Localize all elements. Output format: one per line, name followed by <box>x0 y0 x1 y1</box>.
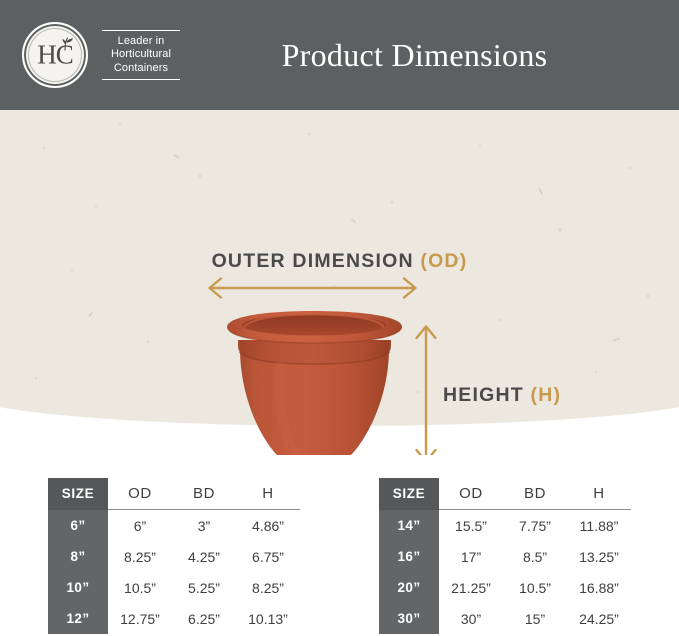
tagline-line-3: Containers <box>104 62 178 76</box>
cell-od: 21.25” <box>439 572 503 603</box>
logo-tagline: Leader in Horticultural Containers <box>102 27 180 84</box>
table-row: 30” 30” 15” 24.25” <box>379 603 631 634</box>
dimension-table-left: SIZE OD BD H 6” 6” 3” 4.86” 8” 8.25” 4.2… <box>48 478 300 634</box>
cell-size: 20” <box>379 572 439 603</box>
cell-size: 8” <box>48 541 108 572</box>
tagline-rule-bottom <box>102 79 180 80</box>
tagline-line-1: Leader in <box>104 35 178 49</box>
cell-bd: 6.25” <box>172 603 236 634</box>
logo-monogram: HC <box>24 42 86 69</box>
col-head-bd: BD <box>503 478 567 510</box>
cell-od: 17” <box>439 541 503 572</box>
cell-bd: 8.5” <box>503 541 567 572</box>
outer-dimension-arrow <box>200 276 425 300</box>
cell-od: 8.25” <box>108 541 172 572</box>
cell-h: 13.25” <box>567 541 631 572</box>
height-text: HEIGHT <box>443 384 524 406</box>
col-head-size: SIZE <box>379 478 439 510</box>
col-head-size: SIZE <box>48 478 108 510</box>
cell-h: 4.86” <box>236 510 300 542</box>
cell-size: 16” <box>379 541 439 572</box>
cell-h: 8.25” <box>236 572 300 603</box>
table-row: 6” 6” 3” 4.86” <box>48 510 300 542</box>
table-row: 20” 21.25” 10.5” 16.88” <box>379 572 631 603</box>
dimension-table-right: SIZE OD BD H 14” 15.5” 7.75” 11.88” 16” … <box>379 478 631 634</box>
col-head-od: OD <box>439 478 503 510</box>
table-row: 10” 10.5” 5.25” 8.25” <box>48 572 300 603</box>
cell-bd: 10.5” <box>503 572 567 603</box>
table-header-row: SIZE OD BD H <box>48 478 300 510</box>
cell-od: 6” <box>108 510 172 542</box>
col-head-bd: BD <box>172 478 236 510</box>
cell-od: 12.75” <box>108 603 172 634</box>
cell-size: 10” <box>48 572 108 603</box>
cell-h: 11.88” <box>567 510 631 542</box>
outer-dimension-code: (OD) <box>420 250 467 272</box>
cell-od: 10.5” <box>108 572 172 603</box>
cell-bd: 7.75” <box>503 510 567 542</box>
product-dimensions-infographic: HC Leader in Horticultural Containers Pr… <box>0 0 679 636</box>
cell-od: 15.5” <box>439 510 503 542</box>
cell-size: 14” <box>379 510 439 542</box>
outer-dimension-text: OUTER DIMENSION <box>212 250 414 272</box>
cell-size: 6” <box>48 510 108 542</box>
height-code: (H) <box>531 384 562 406</box>
table-row: 14” 15.5” 7.75” 11.88” <box>379 510 631 542</box>
table-row: 8” 8.25” 4.25” 6.75” <box>48 541 300 572</box>
col-head-h: H <box>567 478 631 510</box>
height-arrow <box>414 318 438 455</box>
tagline-line-2: Horticultural <box>104 48 178 62</box>
hc-logo-icon: HC <box>22 22 88 88</box>
cell-bd: 3” <box>172 510 236 542</box>
col-head-h: H <box>236 478 300 510</box>
cell-h: 16.88” <box>567 572 631 603</box>
table-header-row: SIZE OD BD H <box>379 478 631 510</box>
table-row: 16” 17” 8.5” 13.25” <box>379 541 631 572</box>
cell-od: 30” <box>439 603 503 634</box>
cell-size: 30” <box>379 603 439 634</box>
cell-bd: 15” <box>503 603 567 634</box>
diagram-panel: OUTER DIMENSION (OD) HEIGHT (H) <box>0 110 679 455</box>
cell-bd: 5.25” <box>172 572 236 603</box>
table-row: 12” 12.75” 6.25” 10.13” <box>48 603 300 634</box>
cell-h: 6.75” <box>236 541 300 572</box>
cell-h: 24.25” <box>567 603 631 634</box>
cell-h: 10.13” <box>236 603 300 634</box>
brand-logo: HC Leader in Horticultural Containers <box>22 22 192 88</box>
cell-bd: 4.25” <box>172 541 236 572</box>
cell-size: 12” <box>48 603 108 634</box>
outer-dimension-label: OUTER DIMENSION (OD) <box>0 250 679 273</box>
col-head-od: OD <box>108 478 172 510</box>
dimension-tables: SIZE OD BD H 6” 6” 3” 4.86” 8” 8.25” 4.2… <box>0 478 679 626</box>
header-bar: HC Leader in Horticultural Containers Pr… <box>0 0 679 110</box>
height-label: HEIGHT (H) <box>443 384 561 407</box>
planter-pot-illustration <box>222 308 407 455</box>
